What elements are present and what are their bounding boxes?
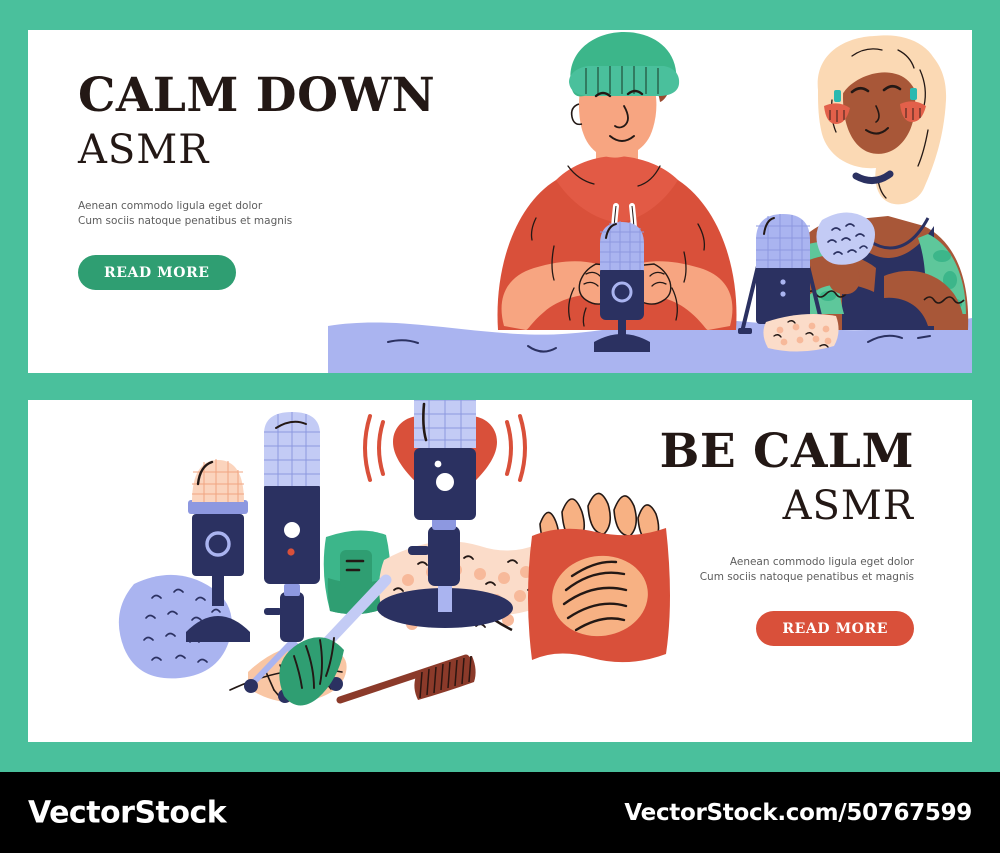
body-line-1: Aenean commodo ligula eget dolor [78, 199, 435, 214]
banner-1-copy: CALM DOWN ASMR Aenean commodo ligula ege… [78, 72, 435, 290]
poster-canvas: CALM DOWN ASMR Aenean commodo ligula ege… [0, 0, 1000, 853]
illustration-asmr-objects [88, 400, 688, 742]
hair-comb [340, 656, 476, 700]
body-text-2: Aenean commodo ligula eget dolor Cum soc… [660, 555, 914, 585]
subtitle-2: ASMR [660, 483, 914, 529]
watermark-bar: VectorStock VectorStock.com/50767599 [0, 772, 1000, 853]
banner-be-calm: BE CALM ASMR Aenean commodo ligula eget … [28, 400, 972, 742]
polka-dot-cloth-1 [763, 314, 838, 352]
page-title: CALM DOWN [78, 72, 435, 119]
body-line-1: Aenean commodo ligula eget dolor [660, 555, 914, 570]
read-more-button-2[interactable]: READ MORE [756, 611, 914, 646]
read-more-button[interactable]: READ MORE [78, 255, 236, 290]
body-text: Aenean commodo ligula eget dolor Cum soc… [78, 199, 435, 229]
vectorstock-logo: VectorStock [28, 795, 226, 830]
body-line-2: Cum sociis natoque penatibus et magnis [660, 570, 914, 585]
body-line-2: Cum sociis natoque penatibus et magnis [78, 214, 435, 229]
page-title-2: BE CALM [660, 428, 914, 475]
subtitle: ASMR [78, 127, 435, 173]
chips-bag [528, 493, 670, 662]
banner-calm-down: CALM DOWN ASMR Aenean commodo ligula ege… [28, 30, 972, 373]
banner-2-copy: BE CALM ASMR Aenean commodo ligula eget … [660, 428, 914, 646]
vectorstock-url: VectorStock.com/50767599 [624, 800, 972, 826]
